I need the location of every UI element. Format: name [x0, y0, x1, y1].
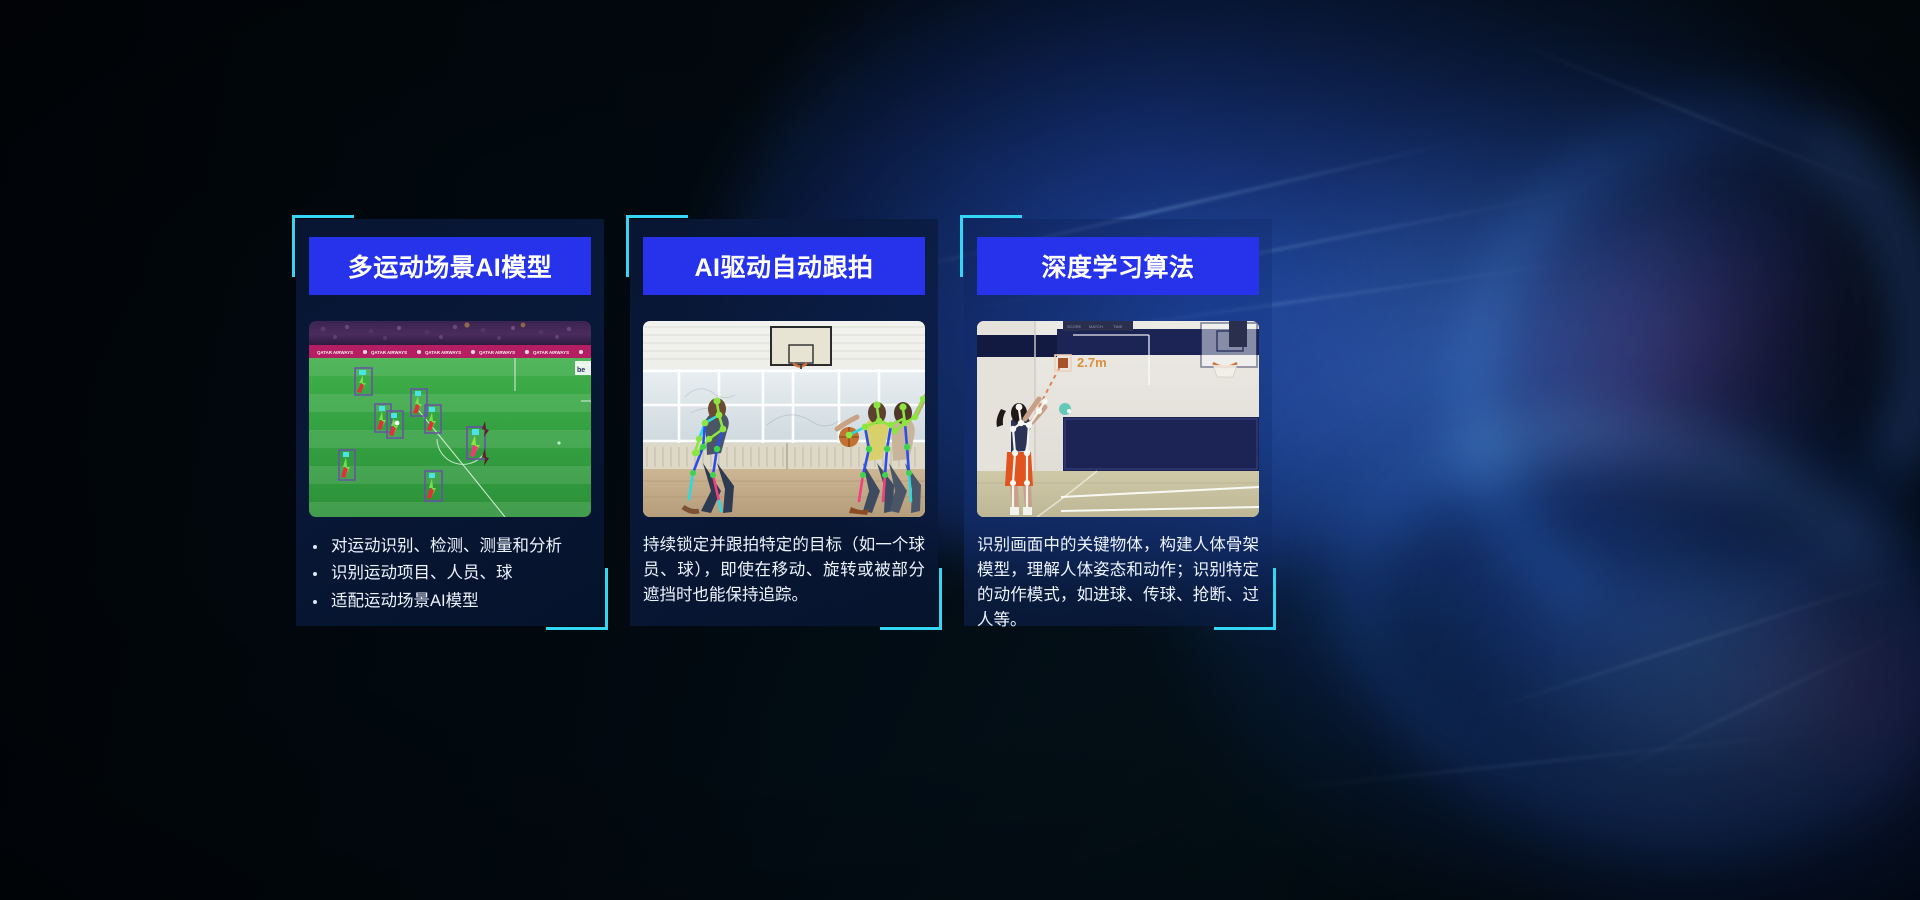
feature-bullet-list: 对运动识别、检测、测量和分析 识别运动项目、人员、球 适配运动场景AI模型: [309, 535, 591, 613]
feature-card-deep-learning-algorithm[interactable]: 深度学习算法: [960, 215, 1276, 630]
indoor-gym-pose-thumbnail[interactable]: [643, 321, 925, 517]
svg-text:QATAR AIRWAYS: QATAR AIRWAYS: [479, 350, 515, 355]
list-item: 对运动识别、检测、测量和分析: [309, 535, 591, 558]
svg-text:SCORE: SCORE: [1067, 324, 1082, 329]
feature-card-row: 多运动场景AI模型: [292, 215, 1277, 630]
feature-description: 持续锁定并跟拍特定的目标（如一个球员、球），即使在移动、旋转或被部分遮挡时也能保…: [643, 533, 925, 608]
slide-canvas: 多运动场景AI模型: [0, 0, 1920, 900]
list-item: 适配运动场景AI模型: [309, 590, 591, 613]
soccer-pitch-detection-thumbnail[interactable]: QATAR AIRWAYS QATAR AIRWAYS QATAR AIRWAY…: [309, 321, 591, 517]
shot-trajectory-analysis-thumbnail[interactable]: SCORE MATCH TIME: [977, 321, 1259, 517]
card-header-bar: 多运动场景AI模型: [309, 237, 591, 295]
card-title: AI驱动自动跟拍: [694, 248, 873, 284]
card-body: 识别画面中的关键物体，构建人体骨架模型，理解人体姿态和动作；识别特定的动作模式，…: [977, 533, 1259, 633]
feature-card-multi-sport-ai-model[interactable]: 多运动场景AI模型: [292, 215, 608, 630]
svg-text:QATAR AIRWAYS: QATAR AIRWAYS: [533, 350, 569, 355]
svg-text:MATCH: MATCH: [1089, 324, 1103, 329]
svg-text:QATAR AIRWAYS: QATAR AIRWAYS: [317, 350, 353, 355]
svg-text:QATAR AIRWAYS: QATAR AIRWAYS: [371, 350, 407, 355]
svg-text:be: be: [577, 367, 585, 374]
card-body: 对运动识别、检测、测量和分析 识别运动项目、人员、球 适配运动场景AI模型: [309, 535, 591, 626]
feature-card-ai-auto-tracking[interactable]: AI驱动自动跟拍: [626, 215, 942, 630]
svg-text:TIME: TIME: [1113, 324, 1123, 329]
feature-description: 识别画面中的关键物体，构建人体骨架模型，理解人体姿态和动作；识别特定的动作模式，…: [977, 533, 1259, 633]
list-item: 识别运动项目、人员、球: [309, 562, 591, 585]
card-title: 多运动场景AI模型: [348, 248, 553, 284]
card-title: 深度学习算法: [1041, 248, 1194, 284]
card-header-bar: 深度学习算法: [977, 237, 1259, 295]
distance-annotation-label: 2.7m: [1077, 355, 1107, 370]
card-header-bar: AI驱动自动跟拍: [643, 237, 925, 295]
svg-text:QATAR AIRWAYS: QATAR AIRWAYS: [425, 350, 461, 355]
card-body: 持续锁定并跟拍特定的目标（如一个球员、球），即使在移动、旋转或被部分遮挡时也能保…: [643, 533, 925, 626]
